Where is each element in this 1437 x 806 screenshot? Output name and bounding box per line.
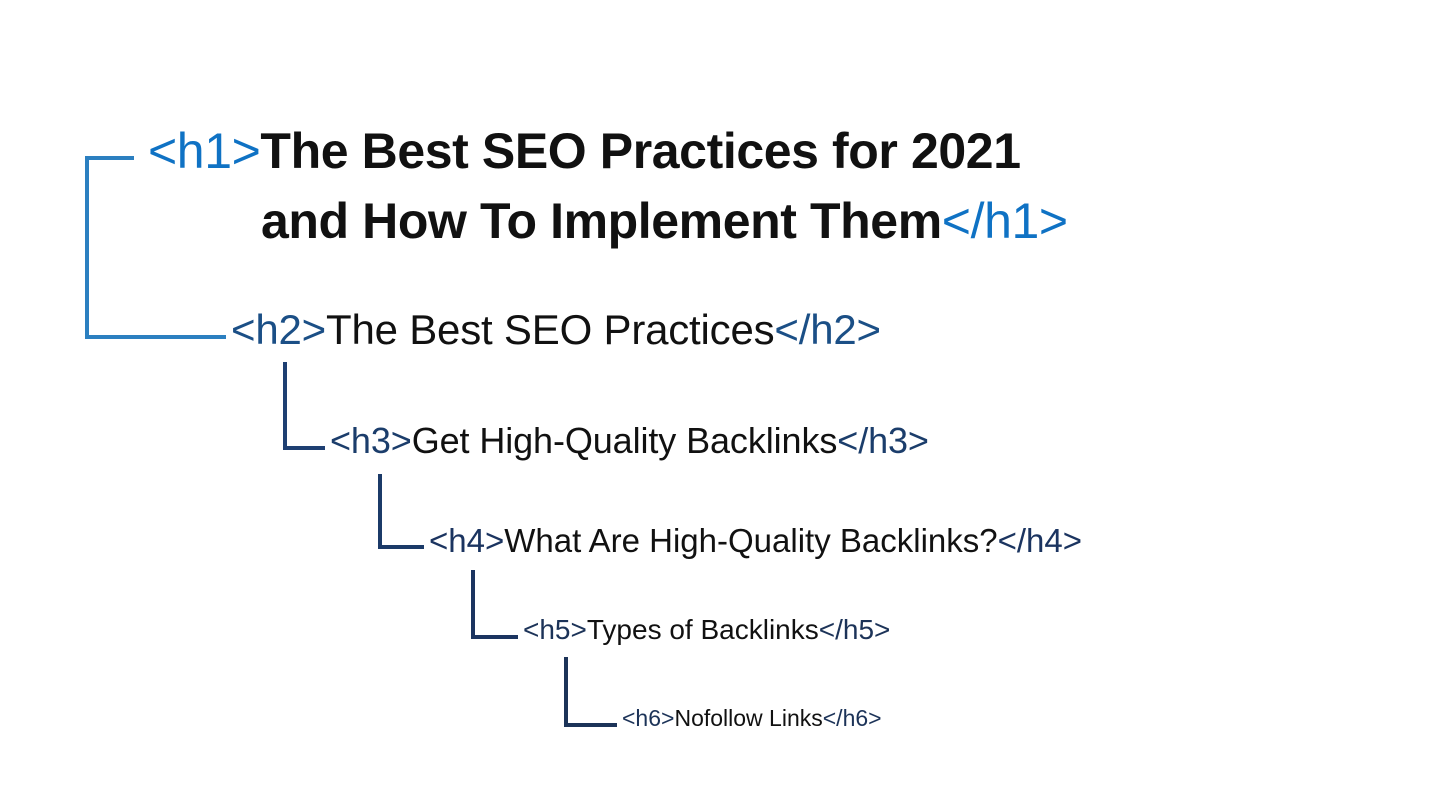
tag-open-h6: <h6> bbox=[622, 705, 674, 731]
tag-close-h3: </h3> bbox=[837, 420, 929, 461]
connector-lines bbox=[0, 0, 1437, 806]
tag-open-h1: <h1> bbox=[148, 123, 260, 179]
heading-h4-text: What Are High-Quality Backlinks? bbox=[504, 522, 997, 559]
heading-h3-text: Get High-Quality Backlinks bbox=[412, 420, 838, 461]
tag-close-h1: </h1> bbox=[942, 193, 1068, 249]
connector-h5-to-h6 bbox=[566, 657, 617, 725]
heading-h1-line-1: <h1>The Best SEO Practices for 2021 bbox=[148, 126, 1068, 196]
heading-h6-text: Nofollow Links bbox=[674, 705, 822, 731]
connector-h3-to-h4 bbox=[380, 474, 424, 547]
heading-h5-text: Types of Backlinks bbox=[587, 614, 819, 645]
heading-node-h5: <h5>Types of Backlinks</h5> bbox=[523, 616, 890, 644]
heading-node-h4: <h4>What Are High-Quality Backlinks?</h4… bbox=[429, 524, 1082, 557]
tag-open-h5: <h5> bbox=[523, 614, 587, 645]
tag-open-h2: <h2> bbox=[231, 306, 326, 353]
tag-close-h2: </h2> bbox=[774, 306, 880, 353]
heading-node-h2: <h2>The Best SEO Practices</h2> bbox=[231, 309, 881, 351]
heading-h1-text-2: and How To Implement Them bbox=[261, 193, 942, 249]
heading-node-h6: <h6>Nofollow Links</h6> bbox=[622, 707, 882, 730]
heading-node-h1: <h1>The Best SEO Practices for 2021and H… bbox=[148, 126, 1068, 266]
tag-open-h4: <h4> bbox=[429, 522, 504, 559]
tag-open-h3: <h3> bbox=[330, 420, 412, 461]
tag-close-h5: </h5> bbox=[819, 614, 891, 645]
tag-close-h4: </h4> bbox=[998, 522, 1082, 559]
connector-h2-to-h3 bbox=[285, 362, 325, 448]
heading-h1-text-1: The Best SEO Practices for 2021 bbox=[260, 123, 1020, 179]
connector-h4-to-h5 bbox=[473, 570, 518, 637]
heading-hierarchy-diagram: <h1>The Best SEO Practices for 2021and H… bbox=[0, 0, 1437, 806]
heading-node-h3: <h3>Get High-Quality Backlinks</h3> bbox=[330, 423, 929, 459]
heading-h2-text: The Best SEO Practices bbox=[326, 306, 774, 353]
heading-h1-line-2: and How To Implement Them</h1> bbox=[148, 196, 1068, 266]
tag-close-h6: </h6> bbox=[823, 705, 882, 731]
